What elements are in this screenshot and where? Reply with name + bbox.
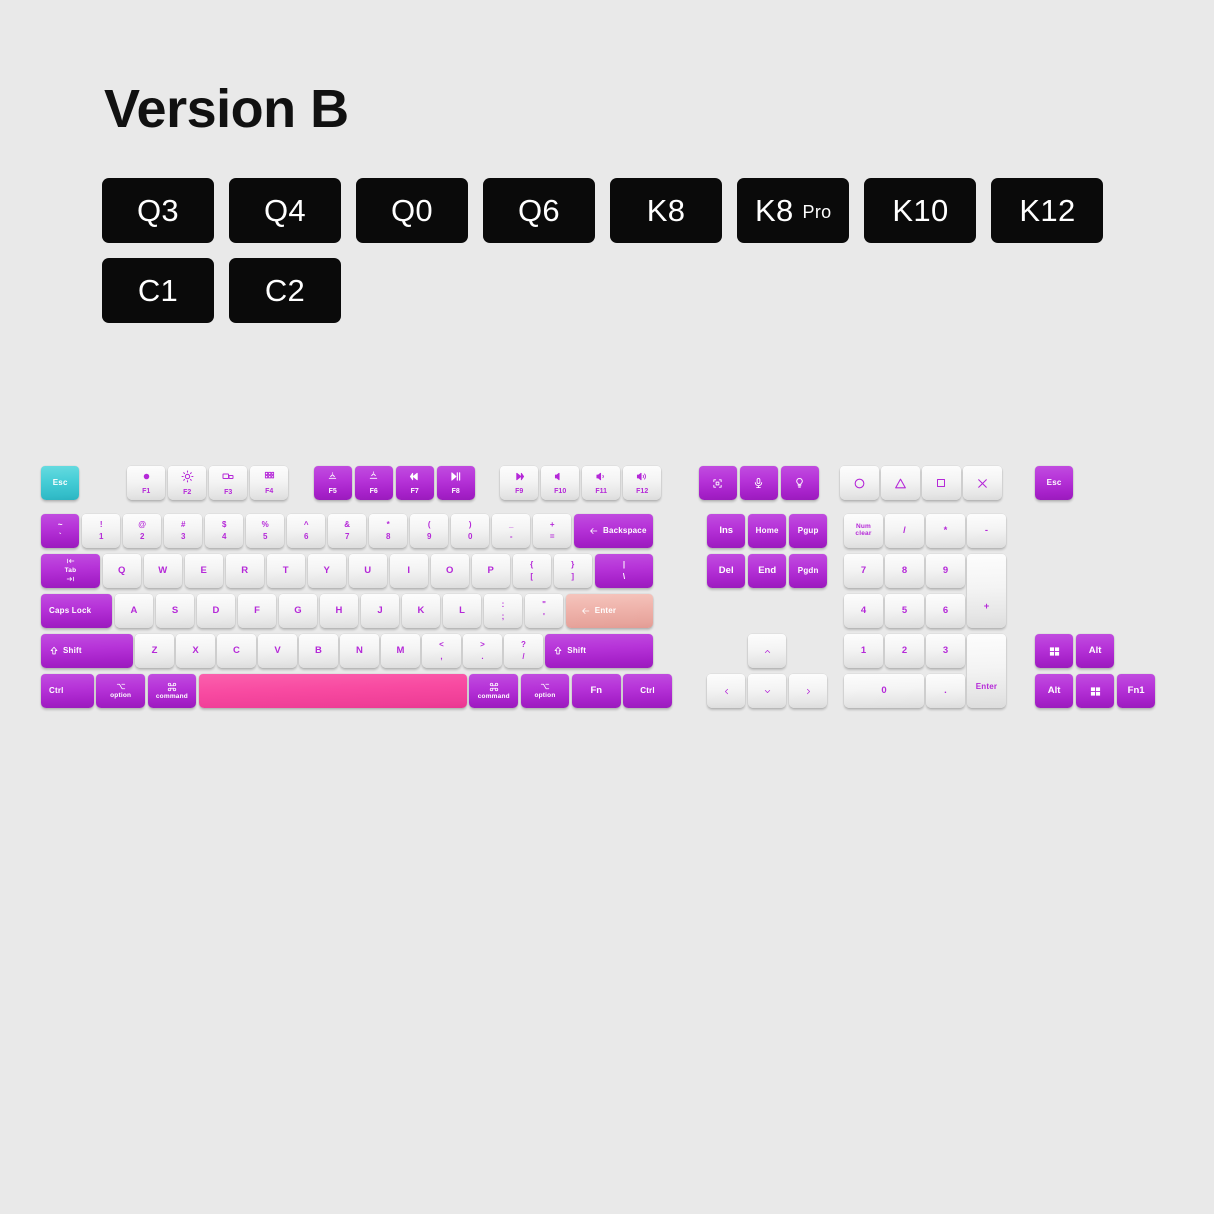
key-legend: U <box>364 566 371 576</box>
key-legend-text: Shift <box>63 647 82 655</box>
key-legend <box>935 477 947 489</box>
key-quote[interactable]: "' <box>525 594 563 628</box>
key-num-plus[interactable]: + <box>967 554 1005 628</box>
key-legend: F10 <box>554 471 566 495</box>
key-key-p[interactable]: P <box>472 554 510 588</box>
key-legend-top: " <box>542 601 546 609</box>
key-option-right[interactable]: option <box>521 674 570 708</box>
key-legend-top: & <box>344 521 350 529</box>
key-legend-text: option <box>534 693 555 700</box>
key-page-up[interactable]: Pgup <box>789 514 827 548</box>
key-legend-text: F5 <box>329 488 337 495</box>
key-legend-bottom: 8 <box>386 533 390 541</box>
key-legend-bottom: 3 <box>181 533 185 541</box>
key-legend: C <box>233 646 240 656</box>
key-legend: + <box>984 602 990 612</box>
key-legend: command <box>156 682 188 701</box>
key-legend: Y <box>324 566 330 576</box>
badge-label: K12 <box>1019 193 1075 229</box>
key-legend: S <box>172 606 178 616</box>
key-equals[interactable]: += <box>533 514 571 548</box>
key-esc[interactable]: Esc <box>41 466 79 500</box>
key-circle[interactable] <box>840 466 878 500</box>
key-key-l[interactable]: L <box>443 594 481 628</box>
page-title: Version B <box>104 82 349 136</box>
key-caps-lock[interactable]: Caps Lock <box>41 594 112 628</box>
key-legend: <, <box>439 641 444 661</box>
key-legend: 6 <box>943 606 948 616</box>
option-icon <box>115 682 127 691</box>
play-pause-icon <box>449 471 462 482</box>
key-arrow-down[interactable] <box>748 674 786 708</box>
key-shift-left[interactable]: Shift <box>41 634 133 668</box>
key-legend: 1 <box>861 646 866 656</box>
key-legend-top: @ <box>138 521 146 529</box>
key-legend: Shift <box>49 645 82 657</box>
volume-up-icon <box>635 471 649 482</box>
key-legend: F5 <box>326 471 339 495</box>
key-legend-bottom: 6 <box>304 533 308 541</box>
key-key-n[interactable]: N <box>340 634 378 668</box>
key-legend: ^6 <box>304 521 309 541</box>
square-icon <box>935 477 947 489</box>
key-legend-text: F7 <box>411 488 419 495</box>
key-legend: F <box>254 606 260 616</box>
key-f12[interactable]: F12 <box>623 466 661 500</box>
key-legend: Enter <box>580 606 616 616</box>
key-key-f[interactable]: F <box>238 594 276 628</box>
key-legend: Pgup <box>798 527 819 535</box>
key-tab[interactable]: Tab <box>41 554 100 588</box>
key-legend-top: % <box>262 521 269 529</box>
key-esc-alt[interactable]: Esc <box>1035 466 1073 500</box>
key-legend-text: Backspace <box>603 527 647 535</box>
badge-label: C2 <box>265 273 305 309</box>
key-legend: R <box>241 566 248 576</box>
key-legend <box>1090 686 1101 697</box>
key-legend-text: F10 <box>554 488 566 495</box>
key-legend-top: + <box>550 521 555 529</box>
key-command-left[interactable]: command <box>148 674 197 708</box>
key-digit-1[interactable]: !1 <box>82 514 120 548</box>
key-legend: F8 <box>449 471 462 495</box>
key-arrow-right[interactable] <box>789 674 827 708</box>
key-legend-text: command <box>156 694 188 701</box>
key-insert[interactable]: Ins <box>707 514 745 548</box>
key-key-j[interactable]: J <box>361 594 399 628</box>
key-key-z[interactable]: Z <box>135 634 173 668</box>
key-f2[interactable]: F2 <box>168 466 206 500</box>
key-legend: F4 <box>263 471 276 495</box>
key-legend <box>1049 646 1060 657</box>
key-legend: Q <box>118 566 125 576</box>
key-mic[interactable] <box>740 466 778 500</box>
key-legend-text: Enter <box>595 607 616 615</box>
key-home[interactable]: Home <box>748 514 786 548</box>
key-legend: 0 <box>881 686 886 696</box>
key-ctrl-right[interactable]: Ctrl <box>623 674 672 708</box>
key-legend: ~` <box>58 521 63 541</box>
key-legend: 3 <box>943 646 948 656</box>
key-legend: >. <box>480 641 485 661</box>
key-command-right[interactable]: command <box>469 674 518 708</box>
key-legend: Alt <box>1089 646 1102 656</box>
key-legend <box>722 686 731 697</box>
key-legend-top: _ <box>509 521 513 529</box>
key-legend-text: option <box>110 693 131 700</box>
key-legend-text: F3 <box>224 489 232 496</box>
key-legend: F9 <box>513 471 526 495</box>
key-legend <box>976 477 989 490</box>
key-legend-top: } <box>571 561 574 569</box>
key-legend: Backspace <box>588 526 647 536</box>
key-key-a[interactable]: A <box>115 594 153 628</box>
key-legend-top: ! <box>100 521 103 529</box>
key-legend: Shift <box>553 645 586 657</box>
key-legend-bottom: ' <box>543 613 545 621</box>
key-legend-bottom: 7 <box>345 533 349 541</box>
key-legend: W <box>158 566 167 576</box>
key-option-left[interactable]: option <box>96 674 145 708</box>
key-digit-6[interactable]: ^6 <box>287 514 325 548</box>
key-legend-top: : <box>502 601 505 609</box>
command-icon <box>489 682 499 692</box>
key-key-b[interactable]: B <box>299 634 337 668</box>
key-legend-top: < <box>439 641 444 649</box>
key-f7[interactable]: F7 <box>396 466 434 500</box>
key-digit-8[interactable]: *8 <box>369 514 407 548</box>
badge-label: K8 <box>647 193 686 229</box>
key-digit-7[interactable]: &7 <box>328 514 366 548</box>
key-tilde[interactable]: ~` <box>41 514 79 548</box>
key-legend: . <box>944 686 947 696</box>
key-key-q[interactable]: Q <box>103 554 141 588</box>
key-f11[interactable]: F11 <box>582 466 620 500</box>
cross-icon <box>976 477 989 490</box>
key-legend: !1 <box>99 521 103 541</box>
key-legend: Esc <box>53 479 68 487</box>
key-legend: F12 <box>635 471 649 495</box>
key-alt-right[interactable]: Alt <box>1076 634 1114 668</box>
key-legend: option <box>110 682 131 700</box>
key-page-down[interactable]: Pgdn <box>789 554 827 588</box>
key-key-h[interactable]: H <box>320 594 358 628</box>
key-key-i[interactable]: I <box>390 554 428 588</box>
key-fn[interactable]: Fn <box>572 674 621 708</box>
key-legend: }] <box>571 561 574 581</box>
badge-k8[interactable]: K8 <box>610 178 722 243</box>
key-legend: 4 <box>861 606 866 616</box>
key-legend-bottom: 0 <box>468 533 472 541</box>
key-key-r[interactable]: R <box>226 554 264 588</box>
key-num-7[interactable]: 7 <box>844 554 882 588</box>
key-comma[interactable]: <, <box>422 634 460 668</box>
key-f5[interactable]: F5 <box>314 466 352 500</box>
key-num-1[interactable]: 1 <box>844 634 882 668</box>
key-win-right[interactable] <box>1076 674 1114 708</box>
key-win-left[interactable] <box>1035 634 1073 668</box>
key-legend-bottom: 9 <box>427 533 431 541</box>
key-legend: 2 <box>902 646 907 656</box>
key-bracket-right[interactable]: }] <box>554 554 592 588</box>
key-key-d[interactable]: D <box>197 594 235 628</box>
key-legend: += <box>550 521 555 541</box>
key-legend: *8 <box>386 521 390 541</box>
key-legend: T <box>283 566 289 576</box>
chevron-right-icon <box>804 686 813 697</box>
key-legend: _- <box>509 521 513 541</box>
key-digit-5[interactable]: %5 <box>246 514 284 548</box>
key-legend-top: ~ <box>58 521 63 529</box>
option-icon <box>539 682 551 691</box>
key-period[interactable]: >. <box>463 634 501 668</box>
key-legend <box>853 477 866 490</box>
key-num-6[interactable]: 6 <box>926 594 964 628</box>
key-legend-text: F2 <box>183 489 191 496</box>
key-legend <box>894 477 907 490</box>
key-legend: I <box>407 566 410 576</box>
key-backspace[interactable]: Backspace <box>574 514 653 548</box>
key-num-minus[interactable]: - <box>967 514 1005 548</box>
badge-sublabel: Pro <box>803 202 832 223</box>
key-key-g[interactable]: G <box>279 594 317 628</box>
key-legend: &7 <box>344 521 350 541</box>
badge-label: Q6 <box>518 193 560 229</box>
key-legend: Fn1 <box>1128 686 1145 696</box>
key-shift-right[interactable]: Shift <box>545 634 653 668</box>
key-legend <box>753 477 764 489</box>
key-legend-text: F6 <box>370 488 378 495</box>
key-legend: )0 <box>468 521 472 541</box>
key-legend-bottom: [ <box>530 573 533 581</box>
key-legend-top: > <box>480 641 485 649</box>
key-legend: F6 <box>367 471 380 495</box>
key-legend: F11 <box>595 471 608 495</box>
key-legend-top: ) <box>469 521 472 529</box>
key-legend: A <box>131 606 138 616</box>
badge-label: K10 <box>892 193 948 229</box>
key-num-slash[interactable]: / <box>885 514 923 548</box>
key-legend: $4 <box>222 521 226 541</box>
key-digit-9[interactable]: (9 <box>410 514 448 548</box>
key-legend: * <box>944 526 948 536</box>
key-num-3[interactable]: 3 <box>926 634 964 668</box>
key-f6[interactable]: F6 <box>355 466 393 500</box>
badge-q0[interactable]: Q0 <box>356 178 468 243</box>
key-legend: O <box>446 566 453 576</box>
key-legend: F2 <box>181 470 194 496</box>
key-digit-4[interactable]: $4 <box>205 514 243 548</box>
badge-q3[interactable]: Q3 <box>102 178 214 243</box>
key-legend-top: { <box>530 561 533 569</box>
key-f1[interactable]: F1 <box>127 466 165 500</box>
key-square[interactable] <box>922 466 960 500</box>
key-digit-0[interactable]: )0 <box>451 514 489 548</box>
key-legend: X <box>192 646 198 656</box>
key-end[interactable]: End <box>748 554 786 588</box>
key-legend-bottom: - <box>510 533 513 541</box>
key-legend: J <box>377 606 382 616</box>
key-num-star[interactable]: * <box>926 514 964 548</box>
key-legend: Ins <box>719 526 733 536</box>
key-key-v[interactable]: V <box>258 634 296 668</box>
key-num-0[interactable]: 0 <box>844 674 923 708</box>
command-icon <box>167 682 177 692</box>
tab-icon <box>65 576 76 585</box>
microphone-icon <box>753 477 764 489</box>
key-legend: Num clear <box>855 524 871 538</box>
key-legend: V <box>274 646 280 656</box>
key-f4[interactable]: F4 <box>250 466 288 500</box>
key-digit-2[interactable]: @2 <box>123 514 161 548</box>
circle-icon <box>853 477 866 490</box>
key-legend: (9 <box>427 521 431 541</box>
key-legend: Caps Lock <box>49 607 91 615</box>
chevron-up-icon <box>762 647 773 656</box>
previous-track-icon <box>408 471 421 482</box>
key-key-s[interactable]: S <box>156 594 194 628</box>
key-key-k[interactable]: K <box>402 594 440 628</box>
key-legend-top: ^ <box>304 521 309 529</box>
key-ctrl-left[interactable]: Ctrl <box>41 674 94 708</box>
key-legend <box>762 687 773 696</box>
key-key-x[interactable]: X <box>176 634 214 668</box>
key-num-enter[interactable]: Enter <box>967 634 1005 708</box>
key-legend-text: F1 <box>142 488 150 495</box>
badge-c1[interactable]: C1 <box>102 258 214 323</box>
volume-down-icon <box>595 471 608 482</box>
backlight-down-icon <box>326 471 339 482</box>
key-legend: Fn <box>590 686 602 696</box>
key-arrow-up[interactable] <box>748 634 786 668</box>
key-key-u[interactable]: U <box>349 554 387 588</box>
launchpad-icon <box>263 471 276 482</box>
key-legend-bottom: ` <box>59 533 62 541</box>
key-minus[interactable]: _- <box>492 514 530 548</box>
key-bracket-left[interactable]: {[ <box>513 554 551 588</box>
key-legend-bottom: ] <box>571 573 574 581</box>
key-legend: F1 <box>141 471 152 495</box>
key-key-t[interactable]: T <box>267 554 305 588</box>
key-semicolon[interactable]: :; <box>484 594 522 628</box>
key-num-2[interactable]: 2 <box>885 634 923 668</box>
key-digit-3[interactable]: #3 <box>164 514 202 548</box>
key-fn1[interactable]: Fn1 <box>1117 674 1155 708</box>
tab-icon-back <box>65 558 76 567</box>
badge-k8-pro[interactable]: K8Pro <box>737 178 849 243</box>
triangle-icon <box>894 477 907 490</box>
badge-label: Q0 <box>391 193 433 229</box>
key-legend: Esc <box>1047 479 1062 487</box>
key-num-lock[interactable]: Num clear <box>844 514 882 548</box>
badge-q6[interactable]: Q6 <box>483 178 595 243</box>
key-key-c[interactable]: C <box>217 634 255 668</box>
arrow-left-icon <box>588 526 599 536</box>
key-key-w[interactable]: W <box>144 554 182 588</box>
key-num-4[interactable]: 4 <box>844 594 882 628</box>
chevron-down-icon <box>762 687 773 696</box>
key-f8[interactable]: F8 <box>437 466 475 500</box>
key-delete[interactable]: Del <box>707 554 745 588</box>
key-legend <box>794 477 805 489</box>
key-f10[interactable]: F10 <box>541 466 579 500</box>
key-legend-text: Tab <box>65 568 77 575</box>
key-spacebar[interactable] <box>199 674 467 708</box>
key-legend: {[ <box>530 561 533 581</box>
key-legend: G <box>294 606 301 616</box>
badge-q4[interactable]: Q4 <box>229 178 341 243</box>
key-f3[interactable]: F3 <box>209 466 247 500</box>
badge-k12[interactable]: K12 <box>991 178 1103 243</box>
brightness-icon <box>181 470 194 483</box>
key-cross[interactable] <box>963 466 1001 500</box>
key-legend: D <box>213 606 220 616</box>
key-bulb[interactable] <box>781 466 819 500</box>
backlight-up-icon <box>367 471 380 482</box>
key-legend: K <box>418 606 425 616</box>
key-legend: H <box>336 606 343 616</box>
badge-label: K8 <box>755 193 794 229</box>
key-backslash[interactable]: |\ <box>595 554 654 588</box>
key-key-m[interactable]: M <box>381 634 419 668</box>
key-legend-text: command <box>478 694 510 701</box>
key-legend-bottom: , <box>440 653 442 661</box>
key-enter[interactable]: Enter <box>566 594 654 628</box>
key-legend-text: F9 <box>515 488 523 495</box>
key-legend: Alt <box>1048 686 1061 696</box>
key-f9[interactable]: F9 <box>500 466 538 500</box>
key-legend: 7 <box>861 566 866 576</box>
key-legend-bottom: 2 <box>140 533 144 541</box>
key-legend <box>804 686 813 697</box>
shift-arrow-icon <box>49 645 59 657</box>
key-legend-bottom: . <box>481 653 483 661</box>
badge-list: Q3Q4Q0Q6K8K8ProK10K12C1C2 <box>102 178 1122 323</box>
key-legend: "' <box>542 601 546 621</box>
key-alt-left[interactable]: Alt <box>1035 674 1073 708</box>
key-num-9[interactable]: 9 <box>926 554 964 588</box>
key-key-y[interactable]: Y <box>308 554 346 588</box>
key-legend-top: ? <box>521 641 526 649</box>
key-num-dot[interactable]: . <box>926 674 964 708</box>
key-arrow-left[interactable] <box>707 674 745 708</box>
badge-label: Q4 <box>264 193 306 229</box>
page-root: Version B Q3Q4Q0Q6K8K8ProK10K12C1C2 EscF… <box>0 0 1214 1214</box>
key-legend-bottom: 4 <box>222 533 226 541</box>
badge-k10[interactable]: K10 <box>864 178 976 243</box>
badge-c2[interactable]: C2 <box>229 258 341 323</box>
key-legend: 8 <box>902 566 907 576</box>
key-legend: N <box>356 646 363 656</box>
key-legend-bottom: 1 <box>99 533 103 541</box>
key-legend: End <box>758 566 776 576</box>
key-key-o[interactable]: O <box>431 554 469 588</box>
key-legend-top: # <box>181 521 185 529</box>
key-legend: E <box>201 566 207 576</box>
badge-label: Q3 <box>137 193 179 229</box>
key-triangle[interactable] <box>881 466 919 500</box>
key-snip[interactable] <box>699 466 737 500</box>
key-num-5[interactable]: 5 <box>885 594 923 628</box>
key-legend: Ctrl <box>640 687 655 695</box>
key-num-8[interactable]: 8 <box>885 554 923 588</box>
key-legend-text: F12 <box>636 488 648 495</box>
key-legend: 5 <box>902 606 907 616</box>
key-key-e[interactable]: E <box>185 554 223 588</box>
key-legend: option <box>534 682 555 700</box>
key-legend-top: ( <box>428 521 431 529</box>
key-slash[interactable]: ?/ <box>504 634 542 668</box>
